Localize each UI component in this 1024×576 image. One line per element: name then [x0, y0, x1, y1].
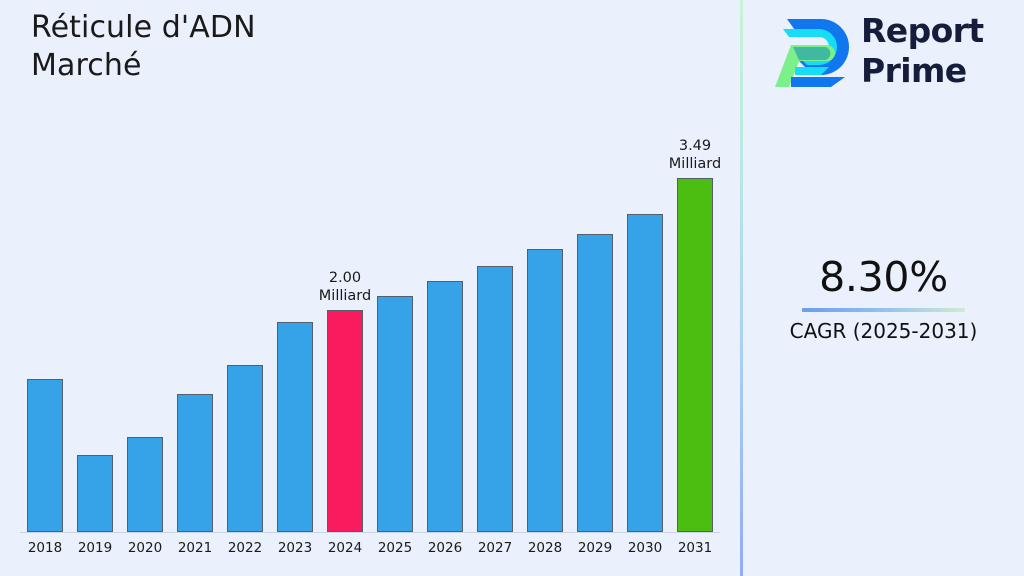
brand-logo: Report Prime [769, 9, 1009, 97]
x-axis-line [20, 532, 720, 533]
x-axis-tick-labels: 2018201920202021202220232024202520262027… [0, 538, 740, 564]
x-tick-2030: 2030 [620, 538, 670, 558]
bar-2026[interactable] [427, 281, 463, 532]
x-tick-2031: 2031 [670, 538, 720, 558]
cagr-value: 8.30% [743, 252, 1024, 302]
x-tick-2019: 2019 [70, 538, 120, 558]
x-tick-2026: 2026 [420, 538, 470, 558]
chart-panel: Réticule d'ADN Marché 2.00 Milliard3.49 … [0, 0, 740, 576]
x-tick-2021: 2021 [170, 538, 220, 558]
x-tick-2027: 2027 [470, 538, 520, 558]
bar-2021[interactable] [177, 394, 213, 532]
x-tick-2028: 2028 [520, 538, 570, 558]
bar-2027[interactable] [477, 266, 513, 532]
bar-2030[interactable] [627, 214, 663, 532]
bar-2025[interactable] [377, 296, 413, 532]
bar-2022[interactable] [227, 365, 263, 532]
bar-2019[interactable] [77, 455, 113, 532]
bar-slot [220, 0, 270, 533]
bar-slot [20, 0, 70, 533]
cagr-divider-rule [802, 308, 965, 312]
x-tick-2025: 2025 [370, 538, 420, 558]
bar-2028[interactable] [527, 249, 563, 532]
slide-root: Réticule d'ADN Marché 2.00 Milliard3.49 … [0, 0, 1024, 576]
bar-slot [620, 0, 670, 533]
bar-slot [470, 0, 520, 533]
bar-2029[interactable] [577, 234, 613, 532]
bar-slot [120, 0, 170, 533]
bar-slot [420, 0, 470, 533]
bar-2023[interactable] [277, 322, 313, 532]
x-tick-2029: 2029 [570, 538, 620, 558]
bar-2024[interactable] [327, 310, 363, 532]
x-tick-2024: 2024 [320, 538, 370, 558]
x-tick-2018: 2018 [20, 538, 70, 558]
bar-chart: 2.00 Milliard3.49 Milliard 2018201920202… [0, 0, 740, 576]
bar-2020[interactable] [127, 437, 163, 532]
chart-plot-area: 2.00 Milliard3.49 Milliard [0, 0, 740, 533]
bar-slot [570, 0, 620, 533]
bar-slot [520, 0, 570, 533]
bar-slot [370, 0, 420, 533]
x-tick-2022: 2022 [220, 538, 270, 558]
x-tick-2023: 2023 [270, 538, 320, 558]
bar-slot [270, 0, 320, 533]
bar-value-label-2031: 3.49 Milliard [654, 137, 736, 173]
x-tick-2020: 2020 [120, 538, 170, 558]
bar-slot: 3.49 Milliard [670, 0, 720, 533]
report-prime-mark-icon [769, 11, 855, 95]
bar-2031[interactable] [677, 178, 713, 532]
bar-2018[interactable] [27, 379, 63, 532]
bar-slot: 2.00 Milliard [320, 0, 370, 533]
cagr-caption: CAGR (2025-2031) [743, 318, 1024, 344]
brand-wordmark: Report Prime [861, 11, 984, 91]
bar-slot [170, 0, 220, 533]
cagr-block: 8.30% CAGR (2025-2031) [743, 252, 1024, 344]
summary-panel: Report Prime 8.30% CAGR (2025-2031) [743, 0, 1024, 576]
bar-slot [70, 0, 120, 533]
